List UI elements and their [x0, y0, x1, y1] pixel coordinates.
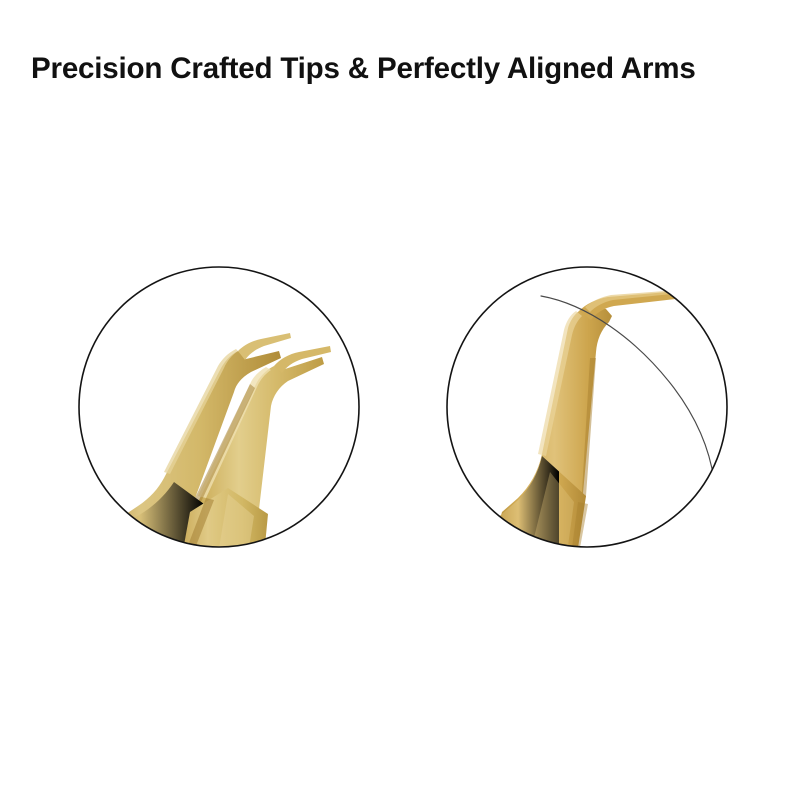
- left-tweezer-illustration: [100, 333, 331, 556]
- right-detail-circle: [446, 266, 728, 548]
- left-detail-circle: [78, 266, 360, 548]
- right-tweezer-illustration: [489, 289, 714, 548]
- product-feature-canvas: Precision Crafted Tips & Perfectly Align…: [0, 0, 800, 800]
- page-title: Precision Crafted Tips & Perfectly Align…: [31, 52, 760, 86]
